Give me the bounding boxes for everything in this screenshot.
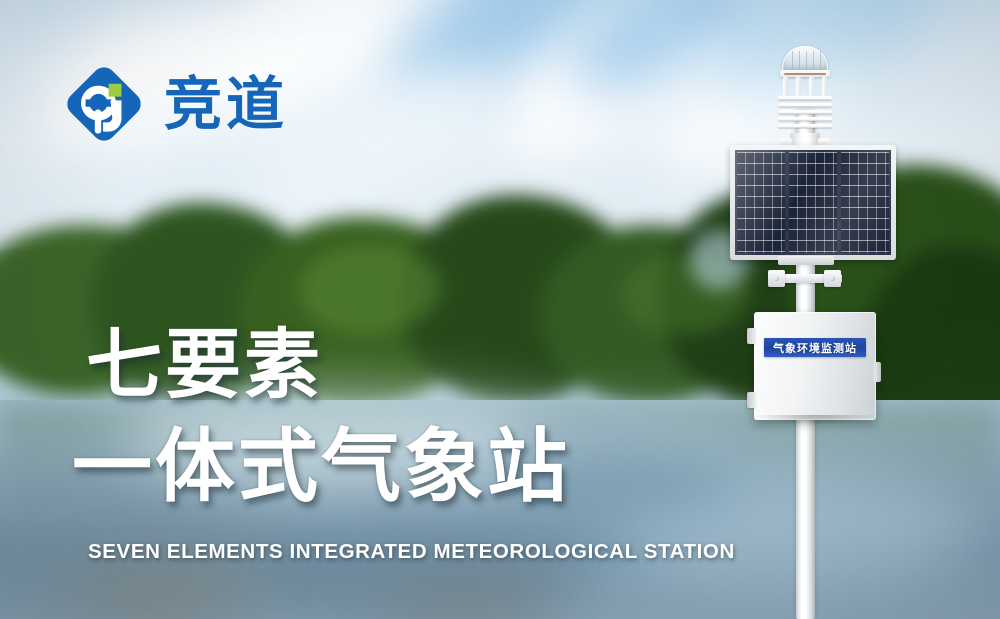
sensor-dome: [782, 46, 828, 72]
brand-name: 竞道: [164, 75, 288, 133]
enclosure-latch: [874, 362, 881, 382]
control-enclosure: 气象环境监测站: [754, 312, 876, 420]
dome-accent-stripe: [784, 73, 826, 75]
headline-subtitle: SEVEN ELEMENTS INTEGRATED METEOROLOGICAL…: [88, 540, 735, 564]
enclosure-label-text: 气象环境监测站: [773, 340, 857, 356]
solar-cell-column: [737, 152, 785, 253]
jingdao-diamond-logo-icon: [58, 58, 150, 150]
radiation-shield-louvres: [778, 96, 832, 134]
mount-bolt-left: [774, 276, 779, 281]
headline-line-1: 七要素: [86, 327, 570, 403]
headline-line-2: 一体式气象站: [72, 427, 570, 507]
solar-panel-bracket: [778, 256, 834, 265]
solar-cell-column: [789, 152, 837, 253]
brand-logo[interactable]: 竞道: [58, 58, 288, 150]
enclosure-hinge-top: [747, 328, 756, 344]
solar-panel-cells: [735, 150, 891, 255]
solar-cell-column: [841, 152, 889, 253]
weather-station-product: 气象环境监测站: [700, 0, 1000, 619]
hero-banner: 竞道 七要素 一体式气象站 SEVEN ELEMENTS INTEGRATED …: [0, 0, 1000, 619]
solar-panel: [730, 145, 896, 260]
enclosure-label-band: 气象环境监测站: [764, 338, 866, 357]
headline-block: 七要素 一体式气象站: [86, 327, 570, 507]
mount-bolt-right: [830, 276, 835, 281]
sensor-collar: [782, 77, 828, 97]
dome-ribs: [783, 47, 827, 71]
enclosure-drop-shadow: [754, 415, 876, 425]
enclosure-hinge-bottom: [747, 392, 756, 408]
